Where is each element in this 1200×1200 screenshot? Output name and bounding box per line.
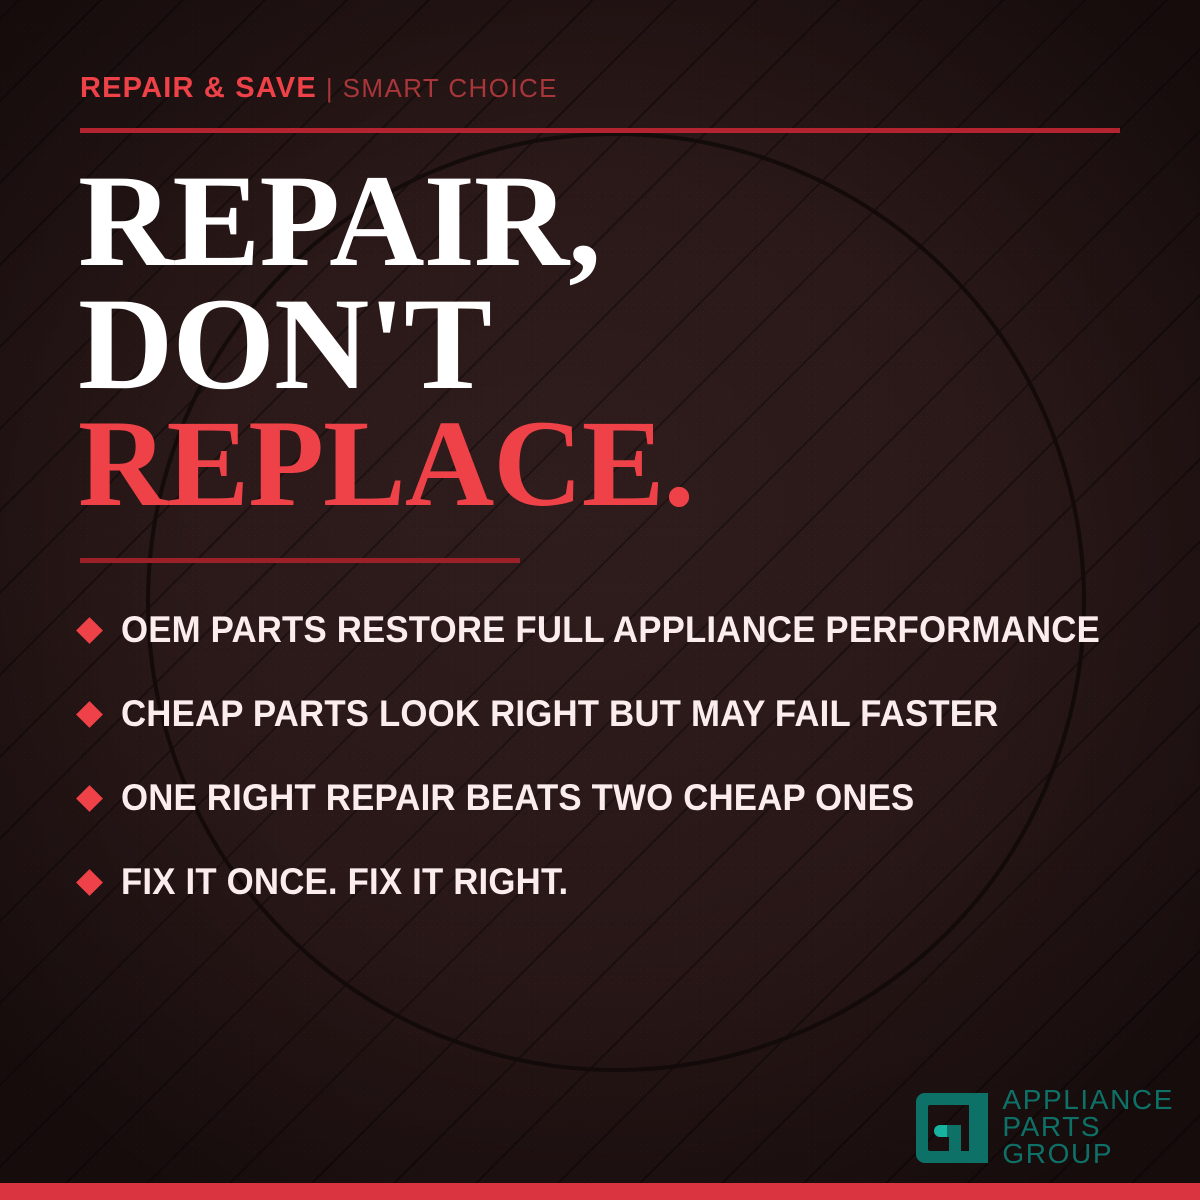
list-item-label: OEM PARTS RESTORE FULL APPLIANCE PERFORM… [121,609,1100,651]
eyebrow-main-label: REPAIR & SAVE [80,72,317,104]
poster-canvas: REPAIR & SAVE| SMART CHOICE REPAIR, DON'… [0,0,1200,1200]
list-item-label: ONE RIGHT REPAIR BEATS TWO CHEAP ONES [121,777,914,819]
list-item: OEM PARTS RESTORE FULL APPLIANCE PERFORM… [80,588,1150,672]
eyebrow: REPAIR & SAVE| SMART CHOICE [80,74,558,103]
eyebrow-sub-label: | SMART CHOICE [326,73,558,103]
brand-word-line-1: APPLIANCE [1002,1087,1174,1114]
poster-content: REPAIR & SAVE| SMART CHOICE REPAIR, DON'… [0,0,1200,1200]
brand-word-line-2: PARTS [1002,1114,1174,1141]
list-item: CHEAP PARTS LOOK RIGHT BUT MAY FAIL FAST… [80,672,1150,756]
diamond-bullet-icon [76,701,103,728]
headline-line-2: DON'T [78,283,694,406]
mid-divider-rule [80,558,520,563]
list-item-label: FIX IT ONCE. FIX IT RIGHT. [121,861,568,903]
diamond-bullet-icon [76,617,103,644]
headline-line-1: REPAIR, [78,160,694,283]
brand-logo-wordmark: APPLIANCE PARTS GROUP [1002,1087,1174,1168]
brand-word-line-3: GROUP [1002,1141,1174,1168]
diamond-bullet-icon [76,869,103,896]
headline-line-3: REPLACE. [78,406,694,521]
g-monogram-icon [914,1091,990,1165]
list-item: FIX IT ONCE. FIX IT RIGHT. [80,840,1150,924]
list-item: ONE RIGHT REPAIR BEATS TWO CHEAP ONES [80,756,1150,840]
list-item-label: CHEAP PARTS LOOK RIGHT BUT MAY FAIL FAST… [121,693,998,735]
bottom-accent-bar [0,1183,1200,1200]
benefit-list: OEM PARTS RESTORE FULL APPLIANCE PERFORM… [80,588,1150,924]
page-title: REPAIR, DON'T REPLACE. [78,160,694,521]
brand-logo: APPLIANCE PARTS GROUP [914,1087,1174,1168]
top-divider-rule [80,128,1120,133]
diamond-bullet-icon [76,785,103,812]
